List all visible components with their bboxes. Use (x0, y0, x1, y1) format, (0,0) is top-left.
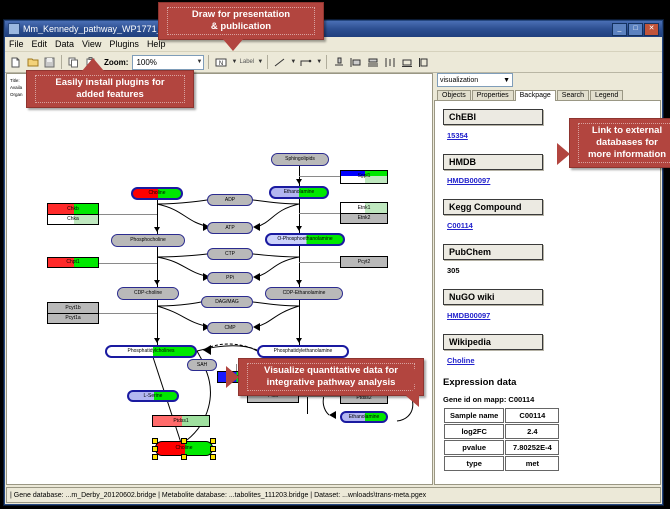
arrow-icon-7 (296, 338, 302, 343)
arrow-icon-3 (154, 338, 160, 343)
callout-draw-box: Draw for presentation & publication (167, 7, 315, 35)
db-link-wikipedia[interactable]: Choline (447, 356, 475, 365)
node-sgpl1-lower[interactable]: Sgpl1 (340, 176, 388, 184)
callout-draw-arrow (222, 38, 244, 51)
main-body: Title: Availa Organ (5, 72, 662, 486)
line-icon[interactable] (272, 55, 287, 70)
node-label: SAH (197, 363, 207, 368)
node-label: O-Phosphoethanolamine (277, 237, 332, 242)
callout-plugins-line1: Easily install plugins for (39, 77, 181, 89)
common-width-icon[interactable] (399, 55, 414, 70)
node-label: Chkb (67, 207, 79, 212)
node-phosphocholine[interactable]: Phosphocholine (111, 234, 185, 247)
chevron-down-icon: ▼ (196, 59, 202, 65)
callout-visualize-line1: Visualize quantitative data for (251, 365, 411, 377)
menu-file[interactable]: File (9, 39, 24, 49)
node-atp[interactable]: ATP (207, 222, 253, 234)
arrow-icon-6 (296, 280, 302, 285)
node-o-phosphoethanolamine[interactable]: O-Phosphoethanolamine (265, 233, 345, 246)
distribute-icon[interactable] (382, 55, 397, 70)
node-ethanolamine-top[interactable]: Ethanolamine (269, 186, 329, 199)
tab-legend[interactable]: Legend (590, 90, 623, 100)
db-header-pubchem: PubChem (443, 244, 543, 260)
arrow-icon-4 (296, 179, 302, 184)
tab-properties[interactable]: Properties (472, 90, 514, 100)
expression-data-heading: Expression data (443, 377, 652, 388)
tab-objects[interactable]: Objects (437, 90, 471, 100)
edge-chpt1-line (99, 263, 157, 264)
pathway-title-info: Title: Availa Organ (10, 77, 23, 99)
expr-key: pvalue (444, 440, 504, 455)
app-icon (8, 23, 20, 35)
node-label: Phosphatidylethanolamine (274, 349, 333, 354)
window-controls: _ □ ✕ (612, 23, 659, 36)
table-row: Sample name C00114 (444, 408, 559, 423)
screenshot-root: Mm_Kennedy_pathway_WP1771_45176.gpml _ □… (0, 0, 670, 509)
node-label: Sphingolipids (285, 157, 315, 162)
menu-data[interactable]: Data (55, 39, 74, 49)
label-dropdown-icon[interactable]: ▼ (257, 59, 263, 65)
menu-view[interactable]: View (82, 39, 101, 49)
node-label: Phosphocholine (130, 238, 166, 243)
tab-search[interactable]: Search (557, 90, 589, 100)
align-stack-icon[interactable] (365, 55, 380, 70)
callout-plugins-line2: added features (39, 89, 181, 101)
node-pcyt2[interactable]: Pcyt2 (340, 256, 388, 268)
zoom-value: 100% (136, 58, 156, 67)
arrow-icon-5 (296, 226, 302, 231)
visualization-row: visualization ▼ (434, 73, 661, 87)
callout-visualize: Visualize quantitative data for integrat… (238, 358, 424, 396)
db-link-hmdb[interactable]: HMDB00097 (447, 176, 490, 185)
menu-edit[interactable]: Edit (32, 39, 48, 49)
node-label: Ethanolamine (284, 190, 315, 195)
expr-value: 7.80252E-4 (505, 440, 559, 455)
node-label: ADP (225, 198, 235, 203)
db-header-nugo: NuGO wiki (443, 289, 543, 305)
db-link-chebi[interactable]: 15354 (447, 131, 468, 140)
expr-key: type (444, 456, 504, 471)
db-block-wikipedia: Wikipedia Choline (443, 332, 652, 368)
node-ppi[interactable]: PPi (207, 272, 253, 284)
node-label: Etnk2 (358, 216, 371, 221)
node-label: L-Serine (144, 394, 163, 399)
callout-draw-line2: & publication (171, 21, 311, 33)
common-height-icon[interactable] (416, 55, 431, 70)
node-label: Phosphatidylcholines (128, 349, 175, 354)
node-cdp-choline[interactable]: CDP-choline (117, 287, 179, 300)
node-chkb[interactable]: Chkb (47, 203, 99, 214)
callout-visualize-arrow-right2 (406, 385, 419, 407)
toolbar-separator-2 (208, 55, 209, 69)
resize-handle-sw[interactable] (152, 454, 158, 460)
zoom-label: Zoom: (104, 58, 128, 67)
node-pcyt1a[interactable]: Pcyt1a (47, 313, 99, 324)
node-pcyt1b[interactable]: Pcyt1b (47, 302, 99, 313)
node-label: Choline (149, 191, 166, 196)
label-tool[interactable]: Label (239, 55, 254, 70)
callout-links-arrow (557, 143, 570, 165)
zoom-combo[interactable]: 100% ▼ (132, 55, 204, 70)
expr-key: Sample name (444, 408, 504, 423)
datanode-dropdown-icon[interactable]: ▼ (231, 59, 237, 65)
title-field-label: Title: (10, 77, 23, 84)
align-top-icon[interactable] (331, 55, 346, 70)
menubar: File Edit Data View Plugins Help (5, 37, 662, 52)
toolbar-separator-4 (326, 55, 327, 69)
status-bar-text: | Gene database: ...m_Derby_20120602.bri… (10, 492, 426, 499)
node-chpt1[interactable]: Chpt1 (47, 257, 99, 268)
node-label: Ptdss1 (173, 419, 188, 424)
arrow-icon-1 (154, 227, 160, 232)
callout-links-line1: Link to external (582, 125, 670, 137)
expression-table: Sample name C00114 log2FC 2.4 pvalue 7.8… (443, 407, 560, 472)
callout-draw: Draw for presentation & publication (158, 2, 324, 40)
db-block-nugo: NuGO wiki HMDB00097 (443, 287, 652, 323)
resize-handle-nw[interactable] (152, 438, 158, 444)
callout-plugins: Easily install plugins for added feature… (26, 70, 194, 108)
resize-handle-n[interactable] (181, 438, 187, 444)
node-label: Pcyt2 (358, 260, 371, 265)
gene-id-line: Gene id on mapp: C00114 (443, 395, 652, 404)
connector-dropdown-icon[interactable]: ▼ (316, 59, 322, 65)
datanode-icon[interactable]: N (213, 55, 228, 70)
node-label: Chpt1 (66, 260, 79, 265)
db-value-pubchem: 305 (447, 266, 460, 275)
resize-handle-e[interactable] (210, 446, 216, 452)
edge-pcyt2-line (299, 262, 340, 263)
callout-plugins-arrow (82, 58, 104, 71)
resize-handle-w[interactable] (152, 446, 158, 452)
menu-plugins[interactable]: Plugins (109, 39, 139, 49)
node-cdp-ethanolamine[interactable]: CDP-Ethanolamine (265, 287, 343, 300)
visualization-value: visualization (440, 77, 478, 84)
node-label: Pcyt1b (65, 306, 80, 311)
callout-plugins-box: Easily install plugins for added feature… (35, 75, 185, 103)
connector-icon[interactable] (298, 55, 313, 70)
resize-handle-s[interactable] (181, 454, 187, 460)
node-label: Pcyt1a (65, 316, 80, 321)
side-panel-tabs: Objects Properties Backpage Search Legen… (434, 87, 661, 101)
line-dropdown-icon[interactable]: ▼ (290, 59, 296, 65)
new-file-icon[interactable] (8, 55, 23, 70)
node-etnk1[interactable]: Etnk1 (340, 202, 388, 213)
node-label: DAG/MAG (215, 300, 239, 305)
save-icon[interactable] (42, 55, 57, 70)
node-label: Chka (67, 217, 79, 222)
callout-links-line3: more information (582, 149, 670, 161)
expr-value: C00114 (505, 408, 559, 423)
callout-draw-line1: Draw for presentation (171, 9, 311, 21)
organism-field-label: Organ (10, 91, 23, 98)
window-titlebar: Mm_Kennedy_pathway_WP1771_45176.gpml _ □… (5, 21, 662, 37)
db-link-nugo[interactable]: HMDB00097 (447, 311, 490, 320)
visualization-combo[interactable]: visualization ▼ (437, 73, 513, 87)
db-header-hmdb: HMDB (443, 154, 543, 170)
node-phosphatidylethanolamine[interactable]: Phosphatidylethanolamine (257, 345, 349, 358)
arrow-icon-2 (154, 280, 160, 285)
node-adp[interactable]: ADP (207, 194, 253, 206)
edge-sgpl1-line (299, 176, 340, 177)
db-header-wikipedia: Wikipedia (443, 334, 543, 350)
node-label: Choline (176, 446, 193, 451)
minimize-button[interactable]: _ (612, 23, 627, 36)
callout-visualize-arrow-left (226, 366, 239, 388)
tab-backpage[interactable]: Backpage (515, 90, 556, 101)
status-bar: | Gene database: ...m_Derby_20120602.bri… (6, 487, 661, 503)
node-etnk2[interactable]: Etnk2 (340, 213, 388, 224)
node-label: Ethanolamine (349, 415, 380, 420)
edge-chk-line (99, 214, 157, 215)
copy-icon[interactable] (66, 55, 81, 70)
table-row: pvalue 7.80252E-4 (444, 440, 559, 455)
menu-help[interactable]: Help (147, 39, 166, 49)
node-label: CMP (224, 326, 235, 331)
node-ptdss1[interactable]: Ptdss1 (152, 415, 210, 427)
db-link-kegg[interactable]: C00114 (447, 221, 473, 230)
availability-field-label: Availa (10, 84, 23, 91)
edge-pcyt1-line (99, 313, 157, 314)
toolbar-separator-3 (267, 55, 268, 69)
chevron-down-icon: ▼ (503, 77, 510, 84)
pathway-canvas[interactable]: Title: Availa Organ (6, 73, 433, 485)
open-folder-icon[interactable] (25, 55, 40, 70)
node-label: ATP (225, 226, 234, 231)
toolbar-separator (61, 55, 62, 69)
callout-links-line2: databases for (582, 137, 670, 149)
node-label: Etnk1 (358, 206, 371, 211)
node-sphingolipids[interactable]: Sphingolipids (271, 153, 329, 166)
expr-key: log2FC (444, 424, 504, 439)
maximize-button[interactable]: □ (628, 23, 643, 36)
callout-visualize-line2: integrative pathway analysis (251, 377, 411, 389)
node-label: CTP (225, 252, 235, 257)
edge-ptdss2-h (299, 396, 340, 397)
node-label: PPi (226, 276, 234, 281)
db-header-kegg: Kegg Compound (443, 199, 543, 215)
table-row: log2FC 2.4 (444, 424, 559, 439)
node-l-serine-left[interactable]: L-Serine (127, 390, 179, 402)
db-block-kegg: Kegg Compound C00114 (443, 197, 652, 233)
align-left-icon[interactable] (348, 55, 363, 70)
node-ctp[interactable]: CTP (207, 248, 253, 260)
resize-handle-se[interactable] (210, 454, 216, 460)
node-phosphatidylcholines[interactable]: Phosphatidylcholines (105, 345, 197, 358)
table-row: type met (444, 456, 559, 471)
node-label: Sgpl1 (358, 176, 371, 179)
svg-text:N: N (219, 61, 223, 67)
callout-links-box: Link to external databases for more info… (578, 123, 670, 163)
resize-handle-ne[interactable] (210, 438, 216, 444)
callout-links: Link to external databases for more info… (569, 118, 670, 168)
expr-value: 2.4 (505, 424, 559, 439)
db-header-chebi: ChEBI (443, 109, 543, 125)
close-button[interactable]: ✕ (644, 23, 659, 36)
node-chka[interactable]: Chka (47, 214, 99, 225)
node-ethanolamine-right[interactable]: Ethanolamine (340, 411, 388, 423)
expr-value: met (505, 456, 559, 471)
db-block-pubchem: PubChem 305 (443, 242, 652, 278)
node-sah[interactable]: SAH (187, 359, 217, 371)
node-label: CDP-choline (134, 291, 162, 296)
node-dagmag[interactable]: DAG/MAG (201, 296, 253, 308)
node-cmp[interactable]: CMP (207, 322, 253, 334)
node-label: Ptdss2 (356, 396, 371, 401)
edge-etnk-line (299, 213, 340, 214)
callout-visualize-box: Visualize quantitative data for integrat… (247, 363, 415, 391)
node-label: CDP-Ethanolamine (283, 291, 326, 296)
node-choline-top[interactable]: Choline (131, 187, 183, 200)
